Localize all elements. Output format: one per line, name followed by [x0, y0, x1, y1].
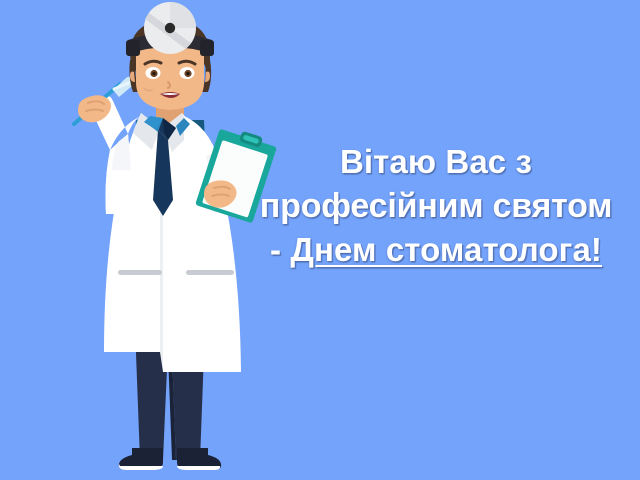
greeting-text: Вітаю Вас з професійним святом - Днем ст…: [236, 140, 636, 272]
greeting-line-1: Вітаю Вас з: [236, 140, 636, 184]
greeting-line-3: - Днем стоматолога!: [236, 228, 636, 272]
greeting-line-2: професійним святом: [236, 184, 636, 228]
greeting-line-3-underlined: Днем стоматолога!: [290, 231, 602, 268]
greeting-line-3-dash: -: [270, 231, 290, 268]
coat-pocket-right: [186, 270, 234, 275]
coat-pocket-left: [118, 270, 162, 275]
greeting-card: Вітаю Вас з професійним святом - Днем ст…: [0, 0, 640, 480]
head-mirror: [144, 2, 196, 54]
shoes: [119, 448, 221, 470]
